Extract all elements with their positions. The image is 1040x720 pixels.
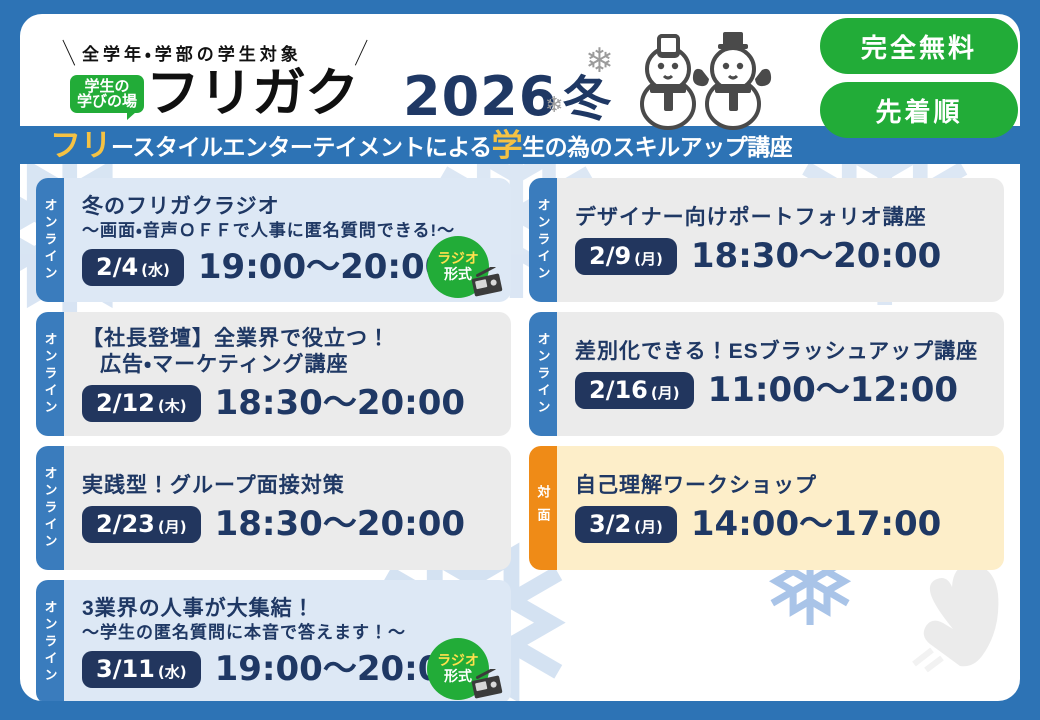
event-mode-tab: オンライン <box>36 178 64 302</box>
event-time: 18:30〜20:00 <box>215 386 465 420</box>
event-date: 2/16 <box>589 378 648 402</box>
year-label: 2026 <box>403 70 557 124</box>
event-time: 14:00〜17:00 <box>691 507 941 541</box>
badge-free[interactable]: 完全無料 <box>820 18 1018 74</box>
event-title: 差別化できる！ESブラッシュアップ講座 <box>575 339 990 365</box>
event-mode-tab: 対面 <box>529 446 557 570</box>
event-day-of-week: (水) <box>158 665 187 680</box>
brand-logo: 学生の 学びの場 フリガク <box>70 68 354 120</box>
snowflake-large-icon: ❄ <box>585 44 614 78</box>
event-day-of-week: (月) <box>651 386 680 401</box>
radio-format-badge: ラジオ 形式 <box>427 638 489 700</box>
event-card[interactable]: オンライン デザイナー向けポートフォリオ講座 2/9 (月) 18:30〜20:… <box>529 178 1004 302</box>
event-card[interactable]: 対面 自己理解ワークショップ 3/2 (月) 14:00〜17:00 <box>529 446 1004 570</box>
event-subtitle: 〜学生の匿名質問に本音で答えます！〜 <box>82 622 497 644</box>
event-day-of-week: (木) <box>158 399 187 414</box>
logo-bubble-line2: 学びの場 <box>77 94 137 109</box>
eyebrow-text: 全学年・学部の学生対象 <box>82 40 302 65</box>
event-date: 2/4 <box>96 255 138 279</box>
event-meta: 2/16 (月) 11:00〜12:00 <box>575 372 990 409</box>
event-date: 2/9 <box>589 244 631 268</box>
event-date-pill: 3/11 (水) <box>82 651 201 688</box>
subtitle-highlight-2: 学 <box>492 130 523 161</box>
season-label: 冬 <box>563 76 611 124</box>
logo-bubble-line1: 学生の <box>77 79 137 94</box>
event-day-of-week: (月) <box>158 520 187 535</box>
event-day-of-week: (月) <box>634 252 663 267</box>
event-date: 2/23 <box>96 512 155 536</box>
event-day-of-week: (月) <box>634 520 663 535</box>
event-title: 3業界の人事が大集結！ <box>82 596 497 622</box>
event-meta: 2/9 (月) 18:30〜20:00 <box>575 238 990 275</box>
event-subtitle: 〜画面・音声ＯＦＦで人事に匿名質問できる!〜 <box>82 220 497 242</box>
radio-badge-line1: ラジオ <box>437 653 479 669</box>
logo-wordmark: フリガク <box>146 68 358 120</box>
event-date-pill: 2/9 (月) <box>575 238 677 275</box>
event-date: 2/12 <box>96 391 155 415</box>
event-card[interactable]: オンライン 実践型！グループ面接対策 2/23 (月) 18:30〜20:00 <box>36 446 511 570</box>
radio-format-badge: ラジオ 形式 <box>427 236 489 298</box>
event-time: 18:30〜20:00 <box>691 239 941 273</box>
event-mode-tab: オンライン <box>529 312 557 436</box>
event-card[interactable]: オンライン 【社長登壇】全業界で役立つ！ 広告・マーケティング講座 2/12 (… <box>36 312 511 436</box>
event-mode-tab: オンライン <box>36 312 64 436</box>
event-time: 19:00〜20:00 <box>198 250 448 284</box>
event-date-pill: 2/23 (月) <box>82 506 201 543</box>
snowmen-illustration <box>628 32 778 137</box>
event-date-pill: 2/16 (月) <box>575 372 694 409</box>
badge-first-come[interactable]: 先着順 <box>820 82 1018 138</box>
event-title: デザイナー向けポートフォリオ講座 <box>575 205 990 231</box>
event-title: 冬のフリガクラジオ <box>82 194 497 220</box>
event-date: 3/11 <box>96 657 155 681</box>
subtitle-tail: 生の為のスキルアップ講座 <box>522 128 792 162</box>
snowflake-small-icon: ❄ <box>545 94 563 116</box>
event-card[interactable]: オンライン 冬のフリガクラジオ 〜画面・音声ＯＦＦで人事に匿名質問できる!〜 2… <box>36 178 511 302</box>
schedule-panel: ❅ ❅ ❅ ❅ ❅ オンライン 冬のフリガクラジオ 〜画面・音声ＯＦＦで人事に匿… <box>20 164 1020 701</box>
event-title: 【社長登壇】全業界で役立つ！ <box>82 326 497 352</box>
subtitle-highlight-1: フリ <box>50 130 111 161</box>
radio-badge-line1: ラジオ <box>437 251 479 267</box>
event-grid: オンライン 冬のフリガクラジオ 〜画面・音声ＯＦＦで人事に匿名質問できる!〜 2… <box>20 164 1020 701</box>
event-title-line2: 広告・マーケティング講座 <box>82 352 497 378</box>
event-time: 18:30〜20:00 <box>215 507 465 541</box>
event-card[interactable]: オンライン 差別化できる！ESブラッシュアップ講座 2/16 (月) 11:00… <box>529 312 1004 436</box>
event-meta: 3/2 (月) 14:00〜17:00 <box>575 506 990 543</box>
badge-group: 完全無料 先着順 <box>820 18 1018 138</box>
event-date-pill: 2/4 (水) <box>82 249 184 286</box>
event-date-pill: 2/12 (木) <box>82 385 201 422</box>
event-title: 実践型！グループ面接対策 <box>82 473 497 499</box>
decorative-slash-left: ＼ <box>53 33 85 71</box>
radio-device-icon <box>467 669 505 701</box>
event-title: 自己理解ワークショップ <box>575 473 990 499</box>
event-day-of-week: (水) <box>141 263 170 278</box>
event-date-pill: 3/2 (月) <box>575 506 677 543</box>
event-card[interactable]: オンライン 3業界の人事が大集結！ 〜学生の匿名質問に本音で答えます！〜 3/1… <box>36 580 511 701</box>
event-time: 11:00〜12:00 <box>708 373 958 407</box>
event-mode-tab: オンライン <box>529 178 557 302</box>
event-meta: 2/23 (月) 18:30〜20:00 <box>82 506 497 543</box>
subtitle-middle: ースタイルエンターテイメントによる <box>111 128 492 162</box>
event-mode-tab: オンライン <box>36 446 64 570</box>
poster-root: ＼ 全学年・学部の学生対象 ／ 学生の 学びの場 フリガク 2026 ❄ 冬 ❄ <box>0 0 1040 720</box>
event-date: 3/2 <box>589 512 631 536</box>
radio-device-icon <box>467 267 505 302</box>
event-mode-tab: オンライン <box>36 580 64 701</box>
logo-speech-bubble: 学生の 学びの場 <box>70 75 144 114</box>
event-meta: 2/12 (木) 18:30〜20:00 <box>82 385 497 422</box>
